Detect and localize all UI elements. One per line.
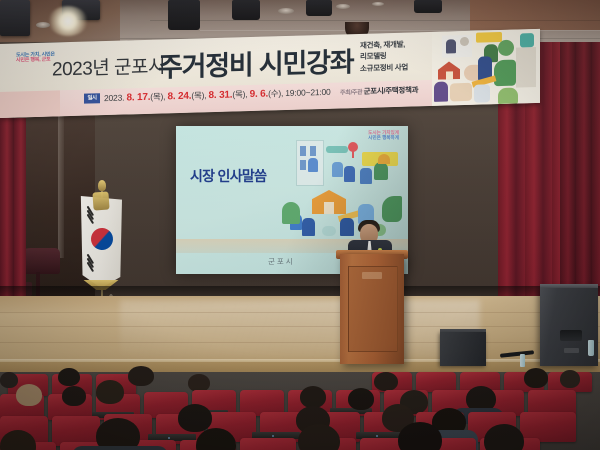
slide-title: 시장 인사말씀 (190, 166, 266, 186)
date-2: 8. 24. (168, 91, 192, 103)
pa-speaker-port (560, 330, 582, 341)
water-bottle (588, 340, 594, 356)
attendee-head (58, 368, 80, 386)
attendee-head (178, 404, 212, 432)
ceiling-light-fixture (0, 0, 30, 36)
date-4-day: (수), (268, 88, 283, 98)
date-3: 8. 31. (209, 90, 233, 102)
podium-emblem (362, 272, 382, 279)
attendee-head (300, 386, 326, 408)
audience-seating-area (0, 372, 600, 450)
banner-subtitle-line1: 재건축, 재개발, (360, 39, 408, 52)
attendee-head (560, 370, 580, 388)
spotlight-glow-icon (48, 6, 88, 36)
attendee-head (298, 424, 340, 450)
slide-footer-text: 군포시 (268, 256, 295, 267)
banner-year-city: 2023년 군포시 (52, 51, 165, 81)
date-3-day: (목), (232, 89, 247, 99)
stage-floor-reflection (120, 300, 480, 360)
banner-pink-block (0, 90, 60, 118)
monitor-speaker (440, 332, 486, 366)
ceiling-recessed-light (372, 2, 384, 6)
date-2-day: (목), (191, 90, 206, 100)
ceiling-wood-panel-right (470, 0, 600, 30)
ceiling-recessed-light (36, 22, 50, 28)
water-bottle (520, 354, 525, 367)
attendee-head (484, 424, 524, 450)
attendee-head (128, 366, 154, 386)
attendee-head (96, 380, 124, 404)
attendee-head (62, 386, 86, 406)
date-4: 9. 6. (250, 89, 268, 101)
banner-date-badge: 일시 (84, 93, 100, 103)
seat (416, 372, 456, 392)
attendee-head (524, 368, 548, 388)
flag-finial (98, 180, 106, 191)
host-name: 군포시/주택정책과 (364, 85, 419, 96)
ceiling-seam (150, 20, 600, 21)
ceiling-recessed-light (336, 4, 350, 9)
slide-logo-line2: 시민은 행복하게 (341, 135, 399, 140)
attendee-head (348, 388, 374, 410)
flag-tassel (92, 191, 109, 210)
ceiling-speaker (306, 0, 332, 16)
ceiling-seam (200, 30, 600, 31)
banner-subtitle: 재건축, 재개발, 리모델링 소규모정비 사업 (360, 39, 408, 74)
stage-curtain-left (0, 118, 26, 308)
attendee-head-bald (16, 384, 42, 406)
attendee-head (398, 422, 442, 450)
auditorium-photo: 도시는 가치, 시민은 시민은 행복, 군포 2023년 군포시 주거정비 시민… (0, 0, 600, 450)
banner-subtitle-line3: 소규모정비 사업 (360, 61, 408, 74)
ceiling-speaker (414, 0, 442, 13)
date-time-range: 19:00~21:00 (285, 87, 330, 98)
attendee-head (0, 372, 18, 388)
event-banner: 도시는 가치, 시민은 시민은 행복, 군포 2023년 군포시 주거정비 시민… (0, 29, 540, 118)
ceiling-speaker (168, 0, 200, 30)
banner-host-line: 주최/주관 군포시/주택정책과 (340, 84, 418, 97)
attendee-shoulders (72, 446, 168, 450)
attendee-head (374, 372, 398, 391)
date-1-day: (목), (150, 91, 165, 101)
banner-main-title: 주거정비 시민강좌 (158, 40, 353, 84)
wall-trim-strip (58, 108, 64, 258)
seat (240, 438, 296, 450)
ceiling-recessed-light (278, 8, 294, 14)
ceiling-speaker (232, 0, 260, 20)
date-prefix: 2023. (104, 93, 124, 104)
host-label: 주최/주관 (340, 90, 362, 97)
slide-slogan-logo: 도시는 가치있게 시민은 행복하게 (341, 130, 399, 147)
pa-speaker-badge (564, 348, 579, 353)
date-1: 8. 17. (126, 92, 150, 104)
banner-illustration (432, 29, 540, 106)
